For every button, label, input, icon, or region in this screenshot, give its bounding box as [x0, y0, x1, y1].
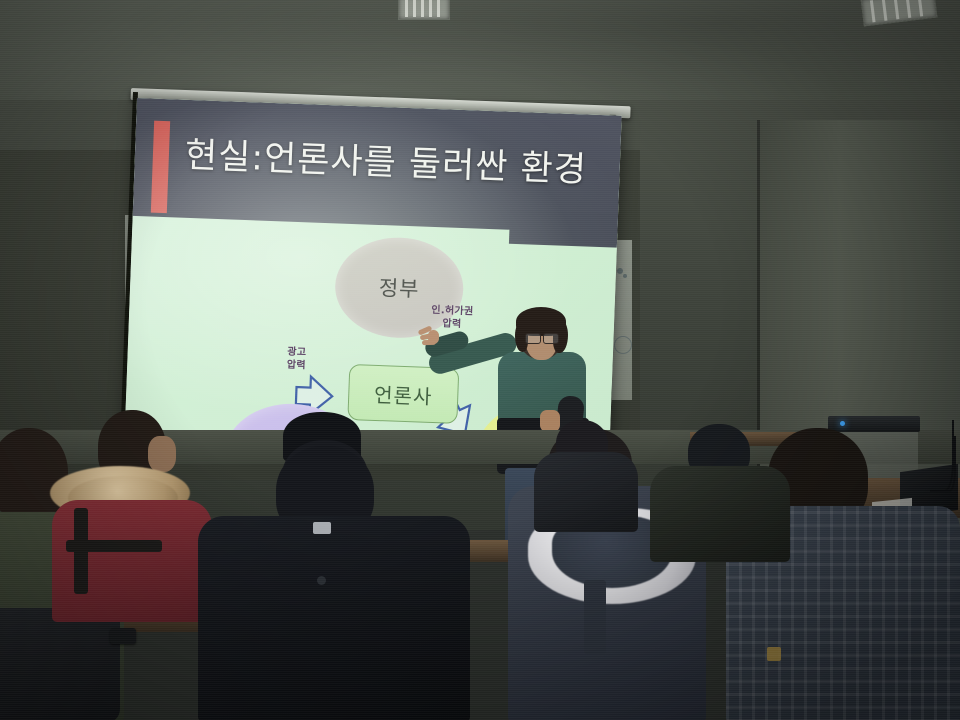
cable-secondary: [940, 436, 956, 492]
arrow-label-ad-pressure: 광고 압력: [273, 346, 320, 373]
jacket-logo-icon: [313, 522, 331, 534]
torso: [650, 466, 790, 562]
backpack-strap-horizontal: [66, 540, 162, 552]
backpack: [0, 608, 120, 720]
presenter-glasses: [525, 333, 559, 342]
jacket-button-icon: [317, 576, 326, 585]
ceiling-vent-1: [398, 0, 450, 20]
parka-back-strap: [584, 580, 606, 654]
torso: [198, 516, 470, 720]
torso: [534, 452, 638, 532]
presenter-left-hand: [540, 410, 560, 432]
smartphone-on-desk[interactable]: [110, 628, 136, 644]
av-power-led-icon: [840, 421, 845, 426]
diagram-node-press-label: 언론사: [374, 378, 433, 409]
shirt-emblem-icon: [767, 647, 781, 661]
diagram-node-government-label: 정부: [378, 272, 420, 303]
face-profile: [148, 436, 176, 472]
lecture-hall-scene: 현실:언론사를 둘러싼 환경 정부 기업 국민 언론사: [0, 0, 960, 720]
presenter-right-hand: [418, 326, 444, 348]
head: [0, 428, 68, 520]
